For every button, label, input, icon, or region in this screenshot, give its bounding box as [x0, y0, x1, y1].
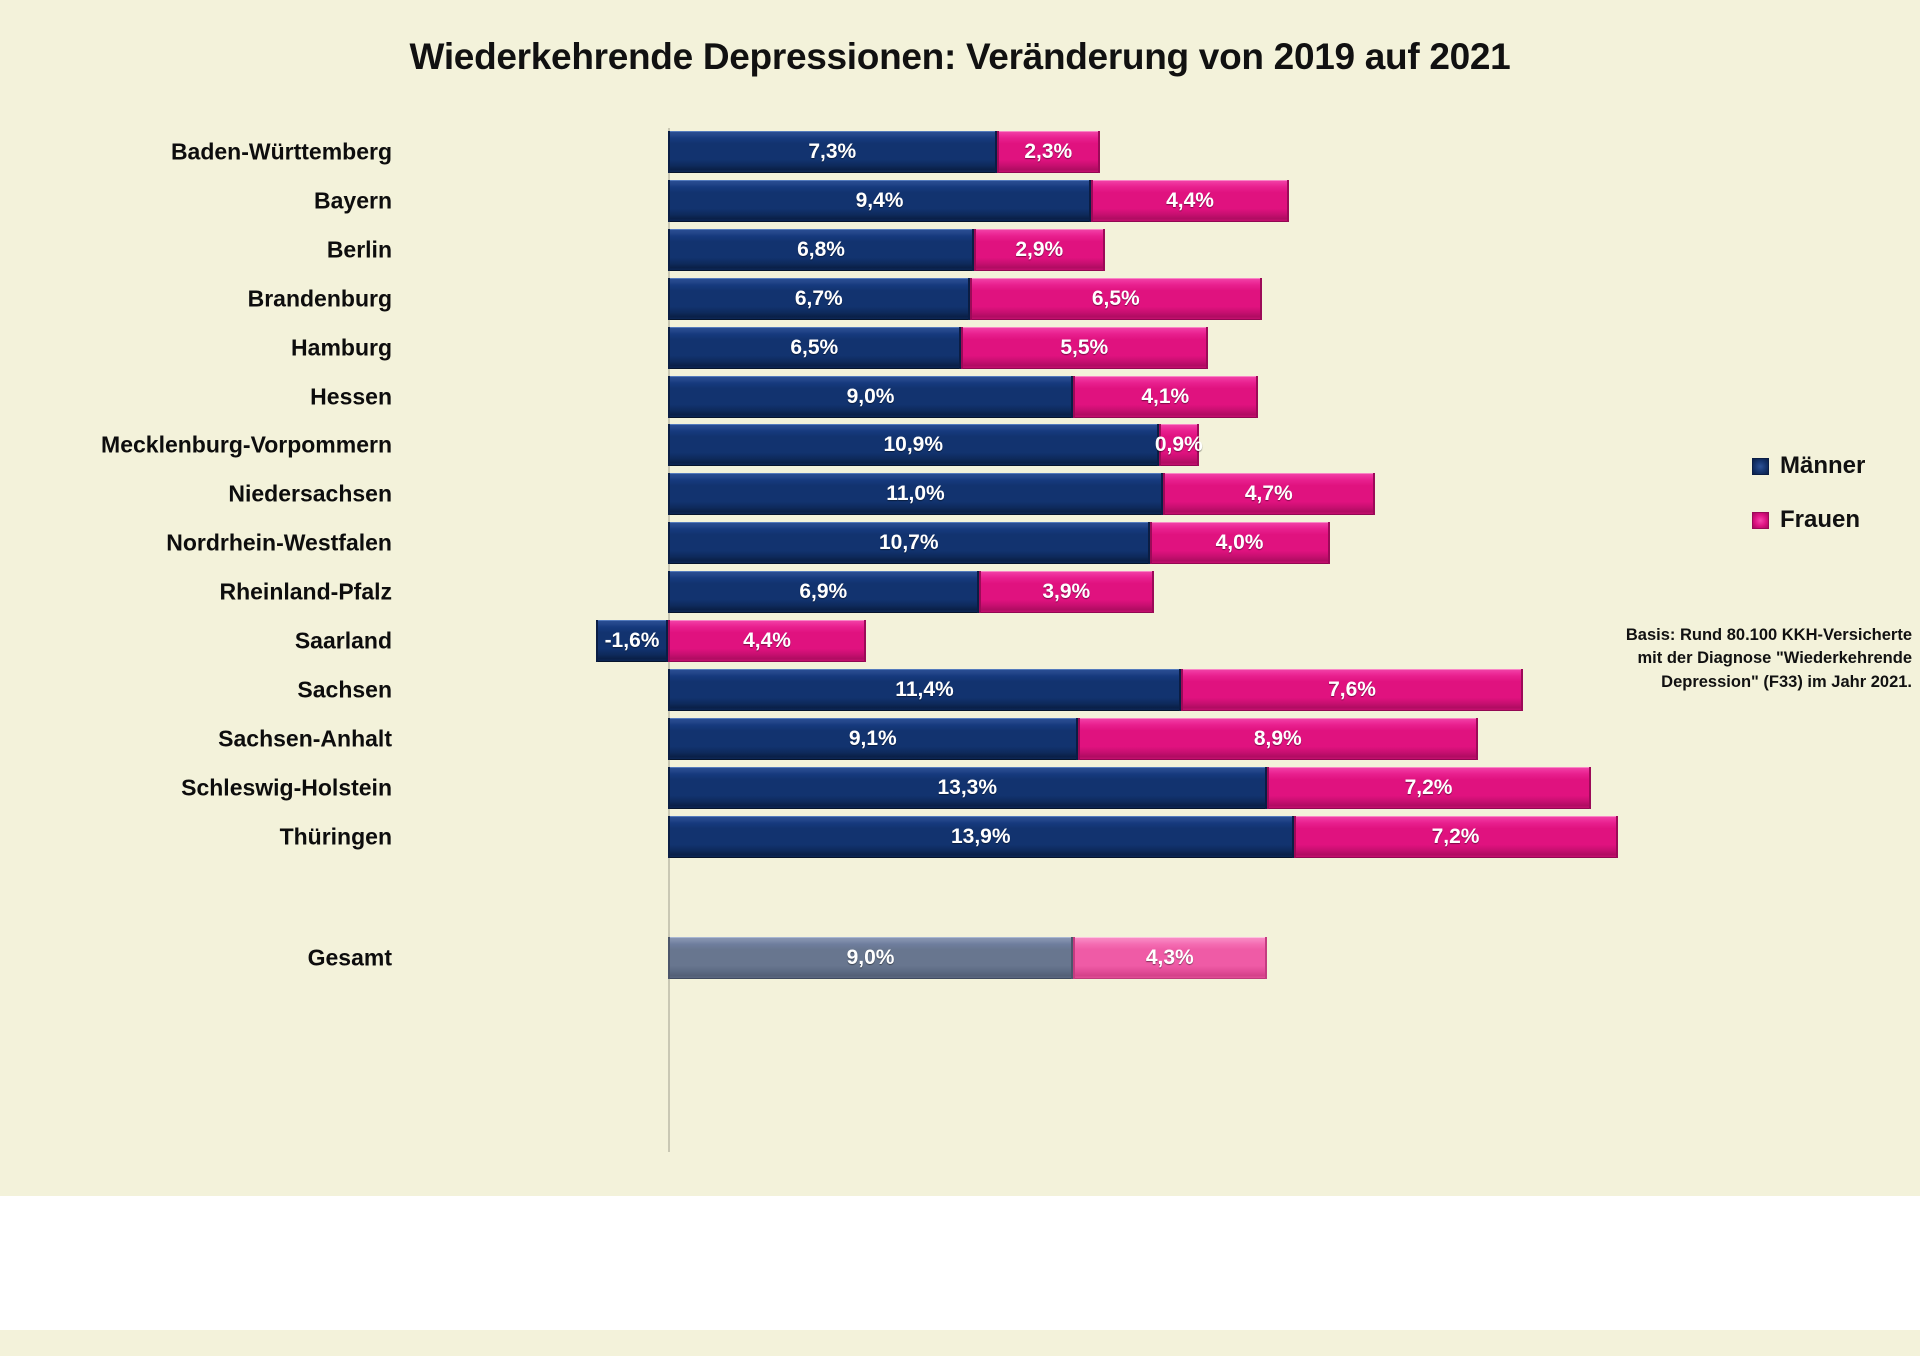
bar-value-male: -1,6% — [605, 629, 660, 653]
bar-female: 4,4% — [1091, 180, 1289, 222]
chart-panel: Wiederkehrende Depressionen: Veränderung… — [0, 0, 1920, 1196]
footer: KKH Kaufmännische Krankenkasse — [0, 1196, 1920, 1330]
bar-male: 6,8% — [668, 229, 974, 271]
bar-male: 10,7% — [668, 522, 1150, 564]
bar-female: 0,9% — [1159, 424, 1200, 466]
bar-value-female: 4,0% — [1216, 531, 1264, 555]
legend-swatch-female-icon — [1752, 512, 1769, 529]
bar-value-female: 8,9% — [1254, 727, 1302, 751]
bar-value-male: 6,7% — [795, 287, 843, 311]
bar-female: 8,9% — [1078, 718, 1479, 760]
bar-female: 4,3% — [1073, 937, 1267, 979]
legend-item-frauen: Frauen — [1752, 506, 1865, 534]
bar-female: 5,5% — [961, 327, 1209, 369]
bar-value-female: 2,9% — [1015, 238, 1063, 262]
legend-label-maenner: Männer — [1780, 452, 1865, 480]
bar-value-male: 10,9% — [883, 433, 943, 457]
bar-group: 10,7%4,0% — [668, 519, 1668, 567]
bar-male: 9,4% — [668, 180, 1091, 222]
bar-group: 6,8%2,9% — [668, 226, 1668, 274]
bar-value-male: 9,0% — [847, 385, 895, 409]
bar-group: -1,6%4,4% — [668, 617, 1668, 665]
bar-male: 6,7% — [668, 278, 970, 320]
bar-value-male: 9,4% — [856, 189, 904, 213]
bar-male: 11,4% — [668, 669, 1181, 711]
row-label: Brandenburg — [20, 285, 392, 312]
bar-value-female: 4,4% — [1166, 189, 1214, 213]
row-label: Gesamt — [20, 944, 392, 971]
bottom-strip — [0, 1330, 1920, 1356]
bar-male: 13,9% — [668, 816, 1294, 858]
legend-label-frauen: Frauen — [1780, 506, 1860, 534]
bar-group: 10,9%0,9% — [668, 421, 1668, 469]
bar-group: 13,9%7,2% — [668, 813, 1668, 861]
row-label: Sachsen-Anhalt — [20, 725, 392, 752]
table-row: Gesamt9,0%4,3% — [0, 934, 1920, 982]
bar-value-male: 6,5% — [790, 336, 838, 360]
bar-male: 9,1% — [668, 718, 1078, 760]
table-row: Rheinland-Pfalz6,9%3,9% — [0, 568, 1920, 616]
bar-female: 3,9% — [979, 571, 1155, 613]
bar-male: 9,0% — [668, 376, 1073, 418]
bar-female: 4,7% — [1163, 473, 1375, 515]
bar-male: 11,0% — [668, 473, 1163, 515]
table-row: Hamburg6,5%5,5% — [0, 324, 1920, 372]
bar-male: 9,0% — [668, 937, 1073, 979]
bar-group: 13,3%7,2% — [668, 764, 1668, 812]
row-label: Baden-Württemberg — [20, 139, 392, 166]
row-label: Sachsen — [20, 676, 392, 703]
bar-value-female: 6,5% — [1092, 287, 1140, 311]
bar-female: 7,2% — [1294, 816, 1618, 858]
bar-value-male: 6,8% — [797, 238, 845, 262]
bar-male: 7,3% — [668, 131, 997, 173]
bar-value-male: 11,4% — [895, 678, 953, 702]
table-row: Schleswig-Holstein13,3%7,2% — [0, 764, 1920, 812]
row-label: Niedersachsen — [20, 481, 392, 508]
bar-group: 6,7%6,5% — [668, 275, 1668, 323]
bar-group: 11,4%7,6% — [668, 666, 1668, 714]
bar-value-male: 11,0% — [886, 482, 944, 506]
bar-group: 6,9%3,9% — [668, 568, 1668, 616]
bar-group: 7,3%2,3% — [668, 128, 1668, 176]
bar-female: 7,2% — [1267, 767, 1591, 809]
bar-value-female: 0,9% — [1155, 433, 1203, 457]
table-row: Hessen9,0%4,1% — [0, 373, 1920, 421]
bar-value-female: 5,5% — [1060, 336, 1108, 360]
table-row: Thüringen13,9%7,2% — [0, 813, 1920, 861]
bar-value-female: 7,2% — [1405, 776, 1453, 800]
row-label: Berlin — [20, 236, 392, 263]
bar-value-male: 13,3% — [937, 776, 997, 800]
bar-value-female: 4,4% — [743, 629, 791, 653]
bar-male: 6,9% — [668, 571, 979, 613]
bar-male: 10,9% — [668, 424, 1159, 466]
table-row: Sachsen-Anhalt9,1%8,9% — [0, 715, 1920, 763]
table-row: Baden-Württemberg7,3%2,3% — [0, 128, 1920, 176]
bar-male: 6,5% — [668, 327, 961, 369]
bar-female: 2,3% — [997, 131, 1101, 173]
table-row: Nordrhein-Westfalen10,7%4,0% — [0, 519, 1920, 567]
bar-male: -1,6% — [596, 620, 668, 662]
row-label: Hessen — [20, 383, 392, 410]
table-row: Berlin6,8%2,9% — [0, 226, 1920, 274]
row-label: Mecklenburg-Vorpommern — [20, 432, 392, 459]
bar-value-male: 10,7% — [879, 531, 939, 555]
bar-value-female: 4,3% — [1146, 946, 1194, 970]
table-row: Mecklenburg-Vorpommern10,9%0,9% — [0, 421, 1920, 469]
row-label: Rheinland-Pfalz — [20, 579, 392, 606]
bar-value-female: 4,7% — [1245, 482, 1293, 506]
bar-value-female: 2,3% — [1024, 140, 1072, 164]
bar-group: 9,0%4,1% — [668, 373, 1668, 421]
bar-value-female: 7,2% — [1432, 825, 1480, 849]
bar-female: 4,0% — [1150, 522, 1330, 564]
bar-group: 9,1%8,9% — [668, 715, 1668, 763]
bar-value-male: 13,9% — [951, 825, 1011, 849]
row-label: Saarland — [20, 628, 392, 655]
bar-group: 9,0%4,3% — [668, 934, 1668, 982]
bar-value-female: 3,9% — [1042, 580, 1090, 604]
bar-female: 2,9% — [974, 229, 1105, 271]
bar-group: 6,5%5,5% — [668, 324, 1668, 372]
bar-group: 11,0%4,7% — [668, 470, 1668, 518]
row-label: Schleswig-Holstein — [20, 774, 392, 801]
row-label: Thüringen — [20, 823, 392, 850]
bar-value-male: 9,0% — [847, 946, 895, 970]
legend: Männer Frauen — [1752, 452, 1865, 560]
legend-swatch-male-icon — [1752, 458, 1769, 475]
bar-female: 7,6% — [1181, 669, 1523, 711]
bar-group: 9,4%4,4% — [668, 177, 1668, 225]
bar-value-male: 9,1% — [849, 727, 897, 751]
row-label: Nordrhein-Westfalen — [20, 530, 392, 557]
bar-male: 13,3% — [668, 767, 1267, 809]
footnote-basis: Basis: Rund 80.100 KKH-Versicherte mit d… — [1620, 624, 1912, 694]
row-label: Hamburg — [20, 334, 392, 361]
bar-female: 4,1% — [1073, 376, 1258, 418]
table-row: Bayern9,4%4,4% — [0, 177, 1920, 225]
bar-value-female: 7,6% — [1328, 678, 1376, 702]
legend-item-maenner: Männer — [1752, 452, 1865, 480]
row-label: Bayern — [20, 187, 392, 214]
table-row: Niedersachsen11,0%4,7% — [0, 470, 1920, 518]
chart-page: Wiederkehrende Depressionen: Veränderung… — [0, 0, 1920, 1356]
bar-value-male: 7,3% — [808, 140, 856, 164]
bar-value-male: 6,9% — [799, 580, 847, 604]
table-row: Brandenburg6,7%6,5% — [0, 275, 1920, 323]
bar-female: 4,4% — [668, 620, 866, 662]
bar-female: 6,5% — [970, 278, 1263, 320]
bar-value-female: 4,1% — [1141, 385, 1189, 409]
bar-rows: Baden-Württemberg7,3%2,3%Bayern9,4%4,4%B… — [0, 0, 1920, 1196]
